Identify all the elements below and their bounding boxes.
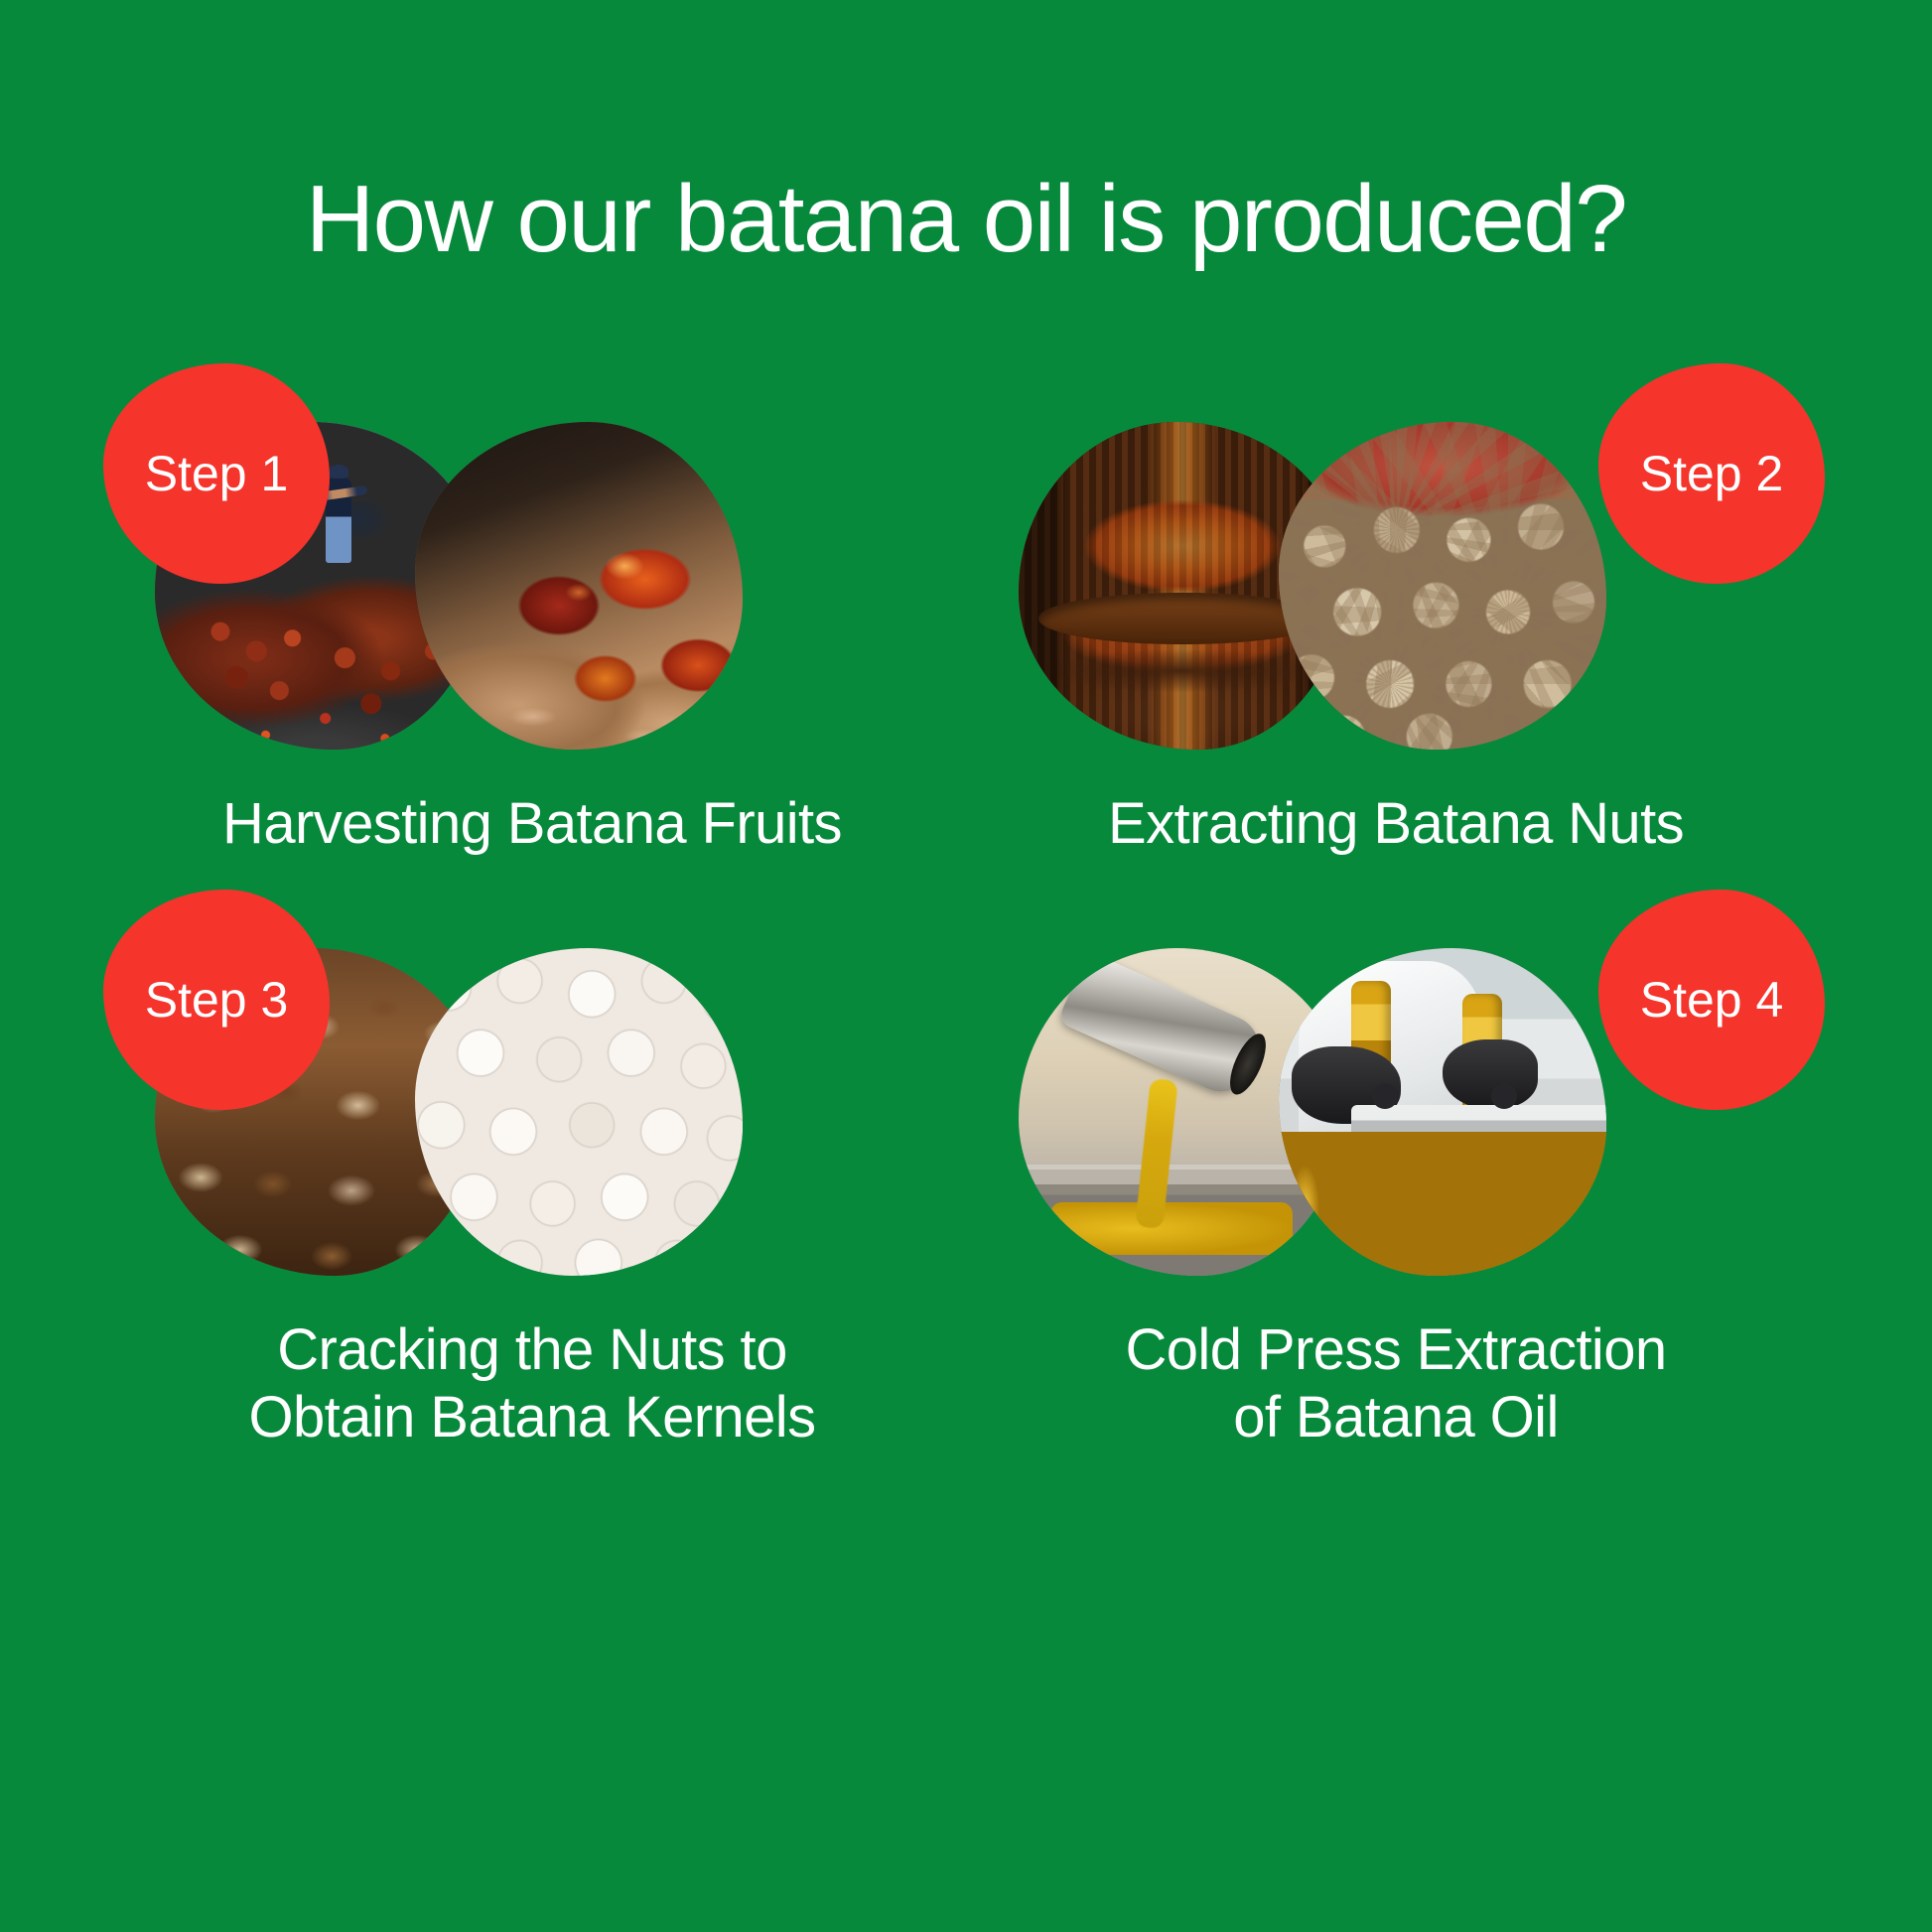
photo-detail-layer (415, 948, 743, 1276)
caption-line-1: Cracking the Nuts to (277, 1317, 786, 1382)
step-badge-3[interactable]: Step 3 (103, 890, 330, 1110)
step-card-4: Step 4 Cold Press Extraction of Batana O… (959, 923, 1833, 1452)
hands-holding-fruits-photo (415, 422, 743, 750)
black-glove (1443, 1039, 1538, 1109)
step-4-image-pair: Step 4 (959, 923, 1833, 1291)
step-card-1: Step 1 Harvesting Batana Fruits (95, 397, 969, 858)
step-1-caption: Harvesting Batana Fruits (95, 790, 969, 858)
step-badge-1[interactable]: Step 1 (103, 363, 330, 584)
step-4-caption: Cold Press Extraction of Batana Oil (959, 1316, 1833, 1452)
step-3-caption: Cracking the Nuts to Obtain Batana Kerne… (95, 1316, 969, 1452)
step-card-2: Step 2 Extracting Batana Nuts (959, 397, 1833, 858)
white-kernels-photo (415, 948, 743, 1276)
steps-grid: Step 1 Harvesting Batana Fruits (0, 397, 1932, 1787)
step-2-image-pair: Step 2 (959, 397, 1833, 764)
dry-nuts-pile-photo (1279, 422, 1606, 750)
step-card-3: Step 3 Cracking the Nuts to Obtain Batan… (95, 923, 969, 1452)
photo-detail-layer (415, 422, 743, 750)
step-3-image-pair: Step 3 (95, 923, 969, 1291)
step-badge-label: Step 4 (1640, 971, 1784, 1029)
step-badge-4[interactable]: Step 4 (1598, 890, 1825, 1110)
step-badge-label: Step 2 (1640, 445, 1784, 502)
step-badge-label: Step 1 (145, 445, 289, 502)
step-badge-label: Step 3 (145, 971, 289, 1029)
step-2-caption: Extracting Batana Nuts (959, 790, 1833, 858)
infographic-poster: How our batana oil is produced? Step 1 (0, 0, 1932, 1932)
caption-line-1: Extracting Batana Nuts (1108, 791, 1684, 856)
worker-figure (326, 478, 351, 563)
photo-texture-layer (1279, 422, 1606, 750)
caption-line-2: Obtain Batana Kernels (95, 1384, 969, 1451)
bottle-row (1279, 1132, 1606, 1276)
caption-line-1: Cold Press Extraction (1125, 1317, 1666, 1382)
caption-line-1: Harvesting Batana Fruits (222, 791, 842, 856)
caption-line-2: of Batana Oil (959, 1384, 1833, 1451)
bottling-line-photo (1279, 948, 1606, 1276)
step-badge-2[interactable]: Step 2 (1598, 363, 1825, 584)
page-title: How our batana oil is produced? (0, 167, 1932, 272)
step-1-image-pair: Step 1 (95, 397, 969, 764)
